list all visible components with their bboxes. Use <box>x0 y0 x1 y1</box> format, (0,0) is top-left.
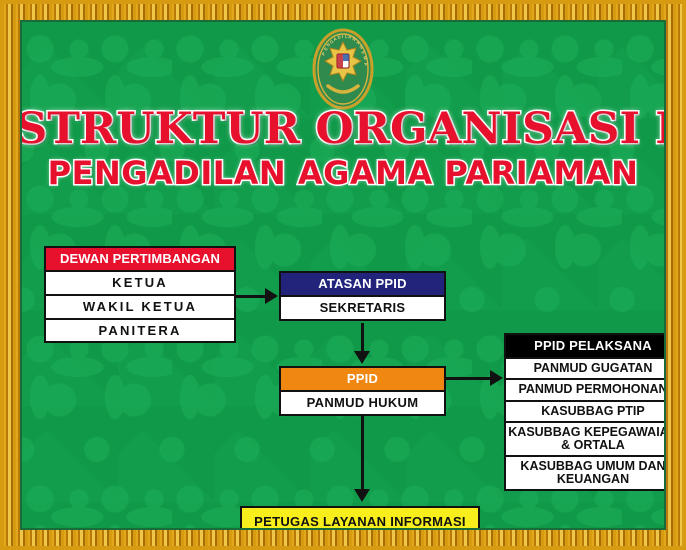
connector-dewan-to-atasan <box>236 295 266 298</box>
page-subtitle: PENGADILAN AGAMA PARIAMAN <box>22 154 664 192</box>
org-row-ketua: KETUA <box>46 270 234 294</box>
org-row-kasubbag-umum-keuangan: KASUBBAG UMUM DAN KEUANGAN <box>506 455 666 489</box>
org-row-sekretaris: SEKRETARIS <box>281 295 444 319</box>
poster-content: P E N G A D I L A N A G A M A <box>22 22 664 528</box>
org-box-header: DEWAN PERTIMBANGAN <box>46 248 234 270</box>
org-box-header: PPID PELAKSANA <box>506 335 666 357</box>
org-row-wakil-ketua: WAKIL KETUA <box>46 294 234 318</box>
org-row-panmud-hukum: PANMUD HUKUM <box>281 390 444 414</box>
connector-ppid-to-pelaksana <box>446 377 491 380</box>
arrowhead-dewan-to-atasan <box>265 288 278 304</box>
poster-title-block: STRUKTUR ORGANISASI PPID PENGADILAN AGAM… <box>22 108 664 192</box>
arrowhead-ppid-to-pelaksana <box>490 370 503 386</box>
connector-ppid-to-petugas <box>361 414 364 490</box>
arrowhead-ppid-to-petugas <box>354 489 370 502</box>
org-row-panitera: PANITERA <box>46 318 234 342</box>
court-emblem-icon: P E N G A D I L A N A G A M A <box>312 28 374 110</box>
arrowhead-atasan-to-ppid <box>354 351 370 364</box>
org-box-header: PETUGAS LAYANAN INFORMASI <box>242 508 478 530</box>
page-title: STRUKTUR ORGANISASI PPID <box>20 108 666 152</box>
org-row-kasubbag-ptip: KASUBBAG PTIP <box>506 400 666 421</box>
poster-root: P E N G A D I L A N A G A M A <box>0 0 686 550</box>
org-box-header: PPID <box>281 368 444 390</box>
poster-inner-frame: P E N G A D I L A N A G A M A <box>20 20 666 530</box>
org-box-atasan-ppid[interactable]: ATASAN PPID SEKRETARIS <box>279 271 446 321</box>
connector-atasan-to-ppid <box>361 323 364 352</box>
org-row-kasubbag-kepegawaian-ortala: KASUBBAG KEPEGAWAIAN & ORTALA <box>506 421 666 455</box>
org-box-header: ATASAN PPID <box>281 273 444 295</box>
org-box-petugas-layanan-informasi[interactable]: PETUGAS LAYANAN INFORMASI <box>240 506 480 530</box>
org-row-panmud-gugatan: PANMUD GUGATAN <box>506 357 666 378</box>
org-box-dewan-pertimbangan[interactable]: DEWAN PERTIMBANGAN KETUA WAKIL KETUA PAN… <box>44 246 236 343</box>
org-row-panmud-permohonan: PANMUD PERMOHONAN <box>506 378 666 399</box>
org-box-ppid-pelaksana[interactable]: PPID PELAKSANA PANMUD GUGATAN PANMUD PER… <box>504 333 666 491</box>
org-box-ppid[interactable]: PPID PANMUD HUKUM <box>279 366 446 416</box>
